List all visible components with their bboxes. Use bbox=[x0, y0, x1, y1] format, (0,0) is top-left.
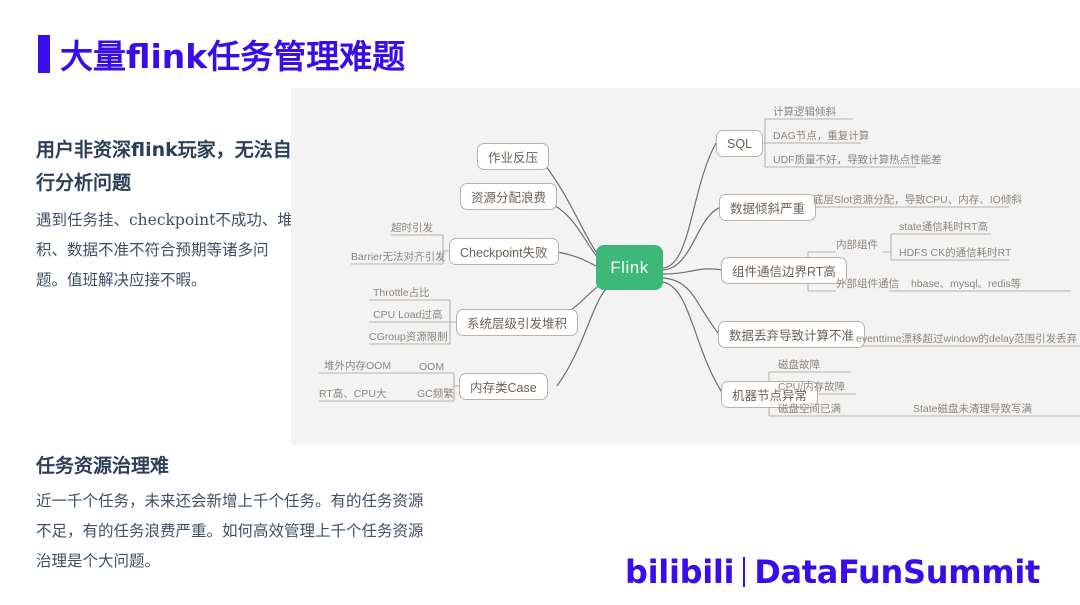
node-data-drop[interactable]: 数据丢弃导致计算不准 bbox=[718, 321, 865, 348]
sub-eventtime-drift[interactable]: eventtime漂移超过window的delay范围引发丢弃 bbox=[856, 330, 1077, 346]
sub-oom[interactable]: OOM bbox=[419, 357, 444, 373]
sub-throttle-ratio[interactable]: Throttle占比 bbox=[373, 284, 430, 300]
node-checkpoint-failure[interactable]: Checkpoint失败 bbox=[449, 238, 559, 265]
mindmap-center-node[interactable]: Flink bbox=[596, 245, 663, 290]
title-text: 大量flink任务管理难题 bbox=[60, 30, 405, 78]
mindmap-connectors bbox=[291, 88, 1080, 445]
footer-brand: bilibili DataFunSummit bbox=[625, 553, 1040, 591]
section1-body: 遇到任务挂、checkpoint不成功、堆积、数据不准不符合预期等诸多问题。值班… bbox=[36, 205, 298, 295]
sub-gc-frequent[interactable]: GC频繁 bbox=[417, 385, 454, 401]
sub-disk-fault[interactable]: 磁盘故障 bbox=[778, 356, 820, 372]
datafunsummit-wordmark: DataFunSummit bbox=[754, 553, 1040, 591]
section2-body: 近一千个任务，未来还会新增上千个任务。有的任务资源不足，有的任务浪费严重。如何高… bbox=[36, 486, 436, 576]
sub-dag-duplicate[interactable]: DAG节点，重复计算 bbox=[773, 127, 869, 143]
title-accent-bar bbox=[38, 35, 50, 73]
sub-external-list[interactable]: hbase、mysql、redis等 bbox=[911, 275, 1021, 291]
mindmap-panel: Flink 作业反压 资源分配浪费 Checkpoint失败 系统层级引发堆积 … bbox=[291, 88, 1080, 445]
sub-state-disk-uncleaned[interactable]: State磁盘未清理导致写满 bbox=[913, 400, 1032, 416]
sub-offheap-oom[interactable]: 堆外内存OOM bbox=[324, 357, 391, 373]
sub-rt-cpu-high[interactable]: RT高、CPU大 bbox=[319, 385, 386, 401]
node-component-rt[interactable]: 组件通信边界RT高 bbox=[721, 257, 847, 284]
sub-disk-full[interactable]: 磁盘空间已满 bbox=[778, 400, 841, 416]
sub-external-component[interactable]: 外部组件通信 bbox=[836, 275, 899, 291]
node-sql[interactable]: SQL bbox=[716, 130, 763, 157]
brand-separator bbox=[743, 557, 745, 587]
section1-heading: 用户非资深flink玩家，无法自行分析问题 bbox=[36, 134, 296, 200]
page-title: 大量flink任务管理难题 bbox=[38, 30, 405, 78]
sub-checkpoint-barrier[interactable]: Barrier无法对齐引发 bbox=[351, 248, 446, 264]
bilibili-wordmark: bilibili bbox=[625, 553, 734, 591]
node-resource-waste[interactable]: 资源分配浪费 bbox=[460, 183, 557, 210]
sub-cgroup-limit[interactable]: CGroup资源限制 bbox=[369, 328, 448, 344]
sub-hdfs-ck-rt[interactable]: HDFS CK的通信耗时RT bbox=[899, 244, 1011, 260]
sub-cpu-load-high[interactable]: CPU Load过高 bbox=[373, 306, 442, 322]
sub-slot-resource[interactable]: 底层Slot资源分配，导致CPU、内存、IO倾斜 bbox=[813, 191, 1022, 207]
sub-cpu-mem-fault[interactable]: CPU/内存故障 bbox=[778, 378, 845, 394]
section2-heading: 任务资源治理难 bbox=[36, 450, 336, 483]
node-memory-case[interactable]: 内存类Case bbox=[459, 373, 548, 400]
node-system-backlog[interactable]: 系统层级引发堆积 bbox=[456, 309, 578, 336]
node-job-backpressure[interactable]: 作业反压 bbox=[477, 143, 549, 170]
sub-compute-logic-skew[interactable]: 计算逻辑倾斜 bbox=[773, 103, 836, 119]
sub-checkpoint-timeout[interactable]: 超时引发 bbox=[391, 219, 433, 235]
sub-udf-quality[interactable]: UDF质量不好，导致计算热点性能差 bbox=[773, 151, 942, 167]
node-data-skew[interactable]: 数据倾斜严重 bbox=[719, 194, 816, 221]
sub-state-rt[interactable]: state通信耗时RT高 bbox=[899, 218, 988, 234]
sub-internal-component[interactable]: 内部组件 bbox=[836, 236, 878, 252]
